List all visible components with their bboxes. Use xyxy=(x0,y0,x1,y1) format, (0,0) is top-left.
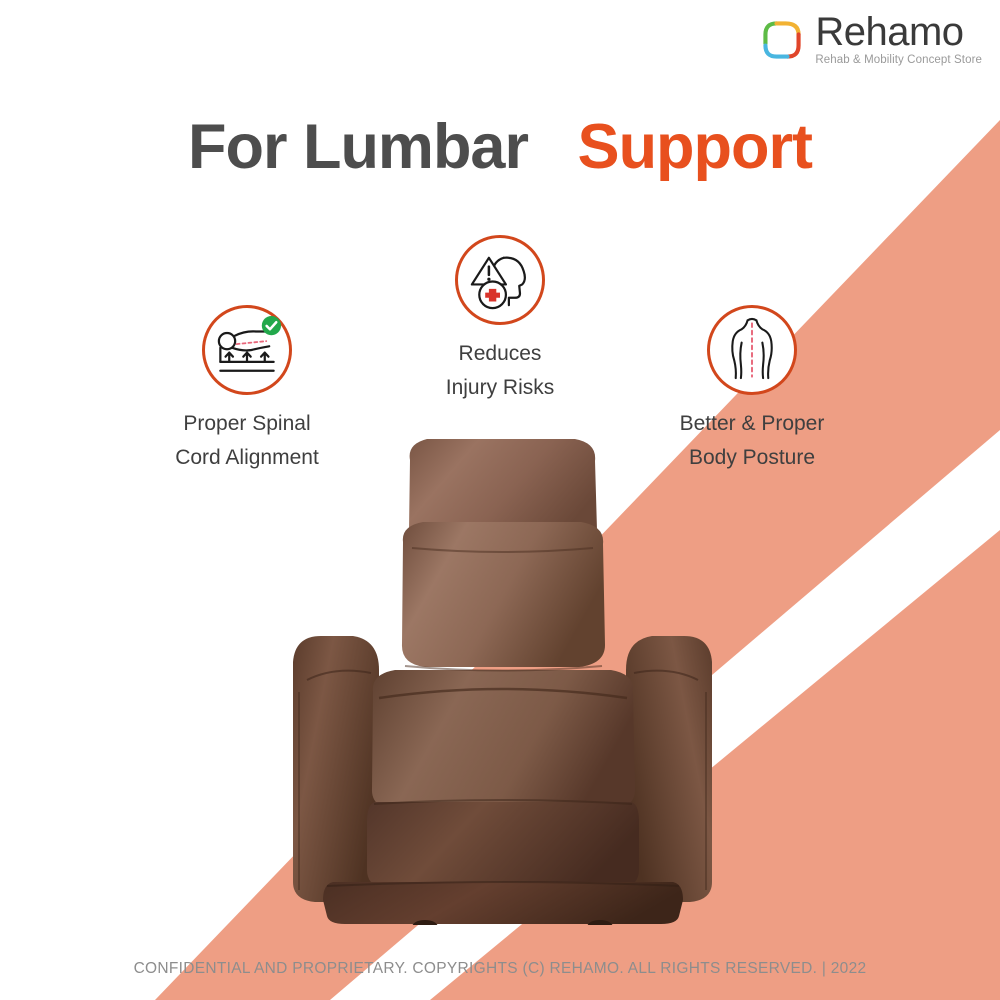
chair-seat-cushion xyxy=(372,670,635,811)
page-title: For Lumbar Support xyxy=(0,112,1000,182)
headline-part1: For Lumbar xyxy=(188,112,528,182)
feature-caption: Proper Spinal Cord Alignment xyxy=(122,407,372,475)
poster-canvas: Rehamo Rehab & Mobility Concept Store Fo… xyxy=(0,0,1000,1000)
feature-caption-line1: Proper Spinal xyxy=(122,407,372,441)
rehamo-pinwheel-logo-icon xyxy=(759,17,805,63)
feature-better-proper-body-posture: Better & Proper Body Posture xyxy=(627,305,877,475)
feature-caption-line1: Better & Proper xyxy=(627,407,877,441)
feature-icon-circle xyxy=(455,235,545,325)
feature-proper-spinal-cord-alignment: Proper Spinal Cord Alignment xyxy=(122,305,372,475)
feature-caption-line2: Cord Alignment xyxy=(122,441,372,475)
feature-caption-line2: Injury Risks xyxy=(375,371,625,405)
green-check-badge-icon xyxy=(262,316,281,335)
feature-icon-circle xyxy=(707,305,797,395)
chair-backrest xyxy=(402,522,605,667)
footer-copyright: CONFIDENTIAL AND PROPRIETARY. COPYRIGHTS… xyxy=(0,960,1000,978)
red-medical-cross-icon xyxy=(479,281,506,308)
head-warning-medical-cross-icon xyxy=(463,243,537,317)
feature-caption: Better & Proper Body Posture xyxy=(627,407,877,475)
feature-reduces-injury-risks: Reduces Injury Risks xyxy=(375,235,625,405)
brown-leather-recliner-chair-image xyxy=(275,430,730,925)
brand-name: Rehamo xyxy=(815,12,963,52)
feature-icon-circle xyxy=(202,305,292,395)
feature-caption-line2: Body Posture xyxy=(627,441,877,475)
chair-armrest-left xyxy=(293,636,379,902)
feature-caption-line1: Reduces xyxy=(375,337,625,371)
logo-text-block: Rehamo Rehab & Mobility Concept Store xyxy=(815,12,982,67)
brand-logo[interactable]: Rehamo Rehab & Mobility Concept Store xyxy=(759,12,982,67)
headline-part2: Support xyxy=(578,112,812,182)
spine-alignment-mattress-icon xyxy=(210,313,284,387)
feature-caption: Reduces Injury Risks xyxy=(375,337,625,405)
chair-base xyxy=(323,882,683,924)
chair-front-panel xyxy=(367,802,639,890)
back-posture-spine-icon xyxy=(715,313,789,387)
brand-tagline: Rehab & Mobility Concept Store xyxy=(815,54,982,67)
